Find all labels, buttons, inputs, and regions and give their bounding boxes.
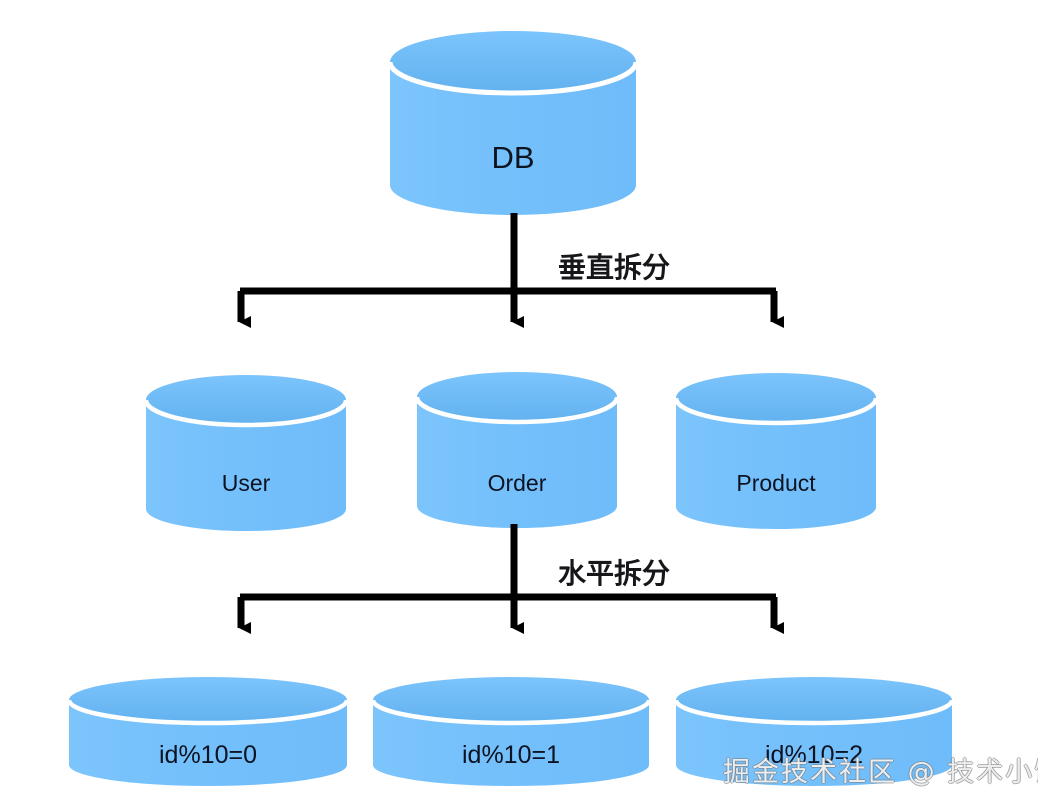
node-user-cylinder	[146, 375, 346, 531]
diagram-canvas: DB User Order Product id%10=0 id%10=1 id…	[0, 0, 1038, 802]
node-shard2-cylinder	[676, 677, 952, 786]
edge-order-to-horizontal-split	[240, 524, 776, 628]
node-product-cylinder	[676, 373, 876, 529]
node-order-cylinder	[417, 372, 617, 528]
edge-label-horizontal-split: 水平拆分	[558, 552, 670, 592]
sharding-diagram	[0, 0, 1038, 802]
node-db-cylinder	[390, 31, 636, 215]
node-shard1-cylinder	[373, 677, 649, 786]
node-shard0-cylinder	[69, 677, 347, 786]
edge-label-vertical-split: 垂直拆分	[558, 246, 670, 286]
edge-db-to-vertical-split	[240, 213, 776, 322]
